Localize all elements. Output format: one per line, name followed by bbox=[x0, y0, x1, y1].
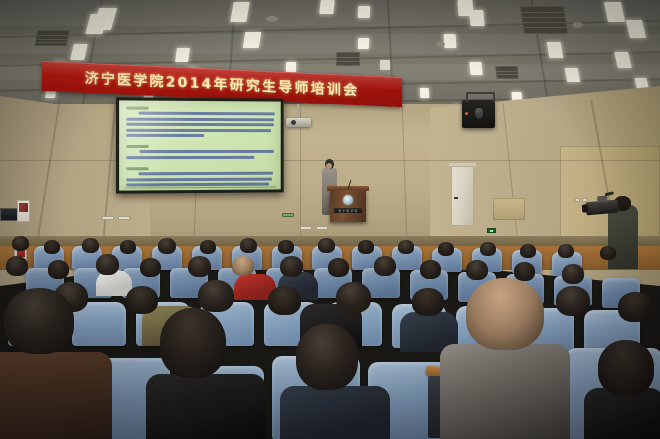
audience-head bbox=[328, 258, 349, 277]
ceiling-light bbox=[358, 6, 371, 18]
audience-head bbox=[600, 246, 616, 260]
audience-head bbox=[278, 240, 294, 254]
slide-heading bbox=[126, 145, 148, 148]
wall-outlet bbox=[118, 216, 130, 220]
ceiling-light bbox=[85, 14, 107, 34]
speaker-face bbox=[326, 163, 332, 169]
audience-head bbox=[140, 258, 161, 277]
audience-head bbox=[480, 242, 496, 256]
slide-heading bbox=[126, 167, 148, 170]
wall-outlet bbox=[102, 216, 114, 220]
audience-torso-foreground bbox=[146, 374, 266, 439]
monitor-cone bbox=[475, 108, 483, 119]
projector-mount-rod bbox=[297, 104, 299, 119]
side-door[interactable] bbox=[451, 166, 474, 226]
ceiling-light bbox=[70, 44, 88, 60]
ceiling-light bbox=[358, 38, 369, 49]
audience-head bbox=[466, 260, 488, 280]
projection-screen bbox=[119, 100, 281, 190]
projection-screen-frame bbox=[116, 97, 284, 193]
audience-head bbox=[398, 240, 414, 254]
audience-head bbox=[412, 288, 444, 316]
right-wall-panel bbox=[493, 198, 525, 220]
audience-head bbox=[82, 238, 99, 253]
ceiling-light bbox=[565, 68, 580, 82]
audience-head bbox=[318, 238, 335, 253]
ceiling-air-vent bbox=[34, 30, 69, 46]
audience-head bbox=[514, 262, 535, 281]
audience-head bbox=[520, 244, 536, 258]
audience-head-foreground bbox=[4, 288, 74, 354]
ceiling-speaker bbox=[436, 42, 445, 47]
audience-head bbox=[48, 260, 69, 279]
ceiling-light bbox=[469, 62, 482, 75]
audience-head bbox=[188, 256, 211, 277]
ceiling-air-vent bbox=[495, 66, 518, 79]
audience-head bbox=[562, 264, 584, 284]
ceiling-light bbox=[444, 34, 457, 48]
audience-torso-foreground bbox=[440, 344, 570, 439]
audience-head bbox=[126, 286, 158, 314]
audience-head bbox=[200, 240, 216, 254]
audience-head bbox=[374, 256, 396, 276]
door-handle[interactable] bbox=[454, 197, 458, 199]
audience-torso-foreground bbox=[0, 352, 112, 439]
audience-torso-foreground bbox=[280, 386, 390, 439]
monitor-power-led bbox=[465, 112, 468, 115]
ceiling-light bbox=[420, 88, 430, 98]
ceiling-air-vent bbox=[336, 52, 360, 66]
ceiling-light bbox=[319, 0, 334, 14]
audience-head bbox=[556, 286, 590, 316]
wall-outlet bbox=[316, 226, 328, 230]
camcorder-lens bbox=[582, 204, 589, 212]
audience-head bbox=[358, 240, 374, 254]
audience-head bbox=[12, 236, 29, 251]
exit-sign bbox=[487, 228, 496, 233]
audience-head bbox=[232, 256, 254, 276]
audience-head bbox=[120, 240, 136, 254]
audience-head bbox=[438, 242, 454, 256]
podium-nameplate-text: 济 宁 医 学 院 bbox=[339, 209, 358, 213]
ceiling-light bbox=[614, 52, 632, 68]
video-camcorder bbox=[585, 200, 618, 216]
audience-head bbox=[618, 292, 652, 322]
wall-outlet bbox=[282, 213, 294, 217]
ceiling-air-vent bbox=[520, 6, 568, 34]
projector-lens bbox=[291, 120, 296, 125]
audience-head-foreground bbox=[160, 308, 226, 378]
wall-outlet bbox=[575, 198, 580, 202]
camera-operator bbox=[608, 205, 638, 269]
ceiling-smoke-detector bbox=[572, 22, 583, 28]
audience-head-foreground bbox=[466, 278, 544, 350]
ceiling-smoke-detector bbox=[266, 16, 278, 22]
audience-head bbox=[280, 256, 303, 277]
ceiling-light bbox=[175, 48, 190, 62]
ceiling-light bbox=[243, 32, 262, 48]
camcorder-viewfinder bbox=[597, 196, 607, 203]
ceiling-light bbox=[469, 10, 484, 26]
audience-head bbox=[158, 238, 176, 254]
audience-head bbox=[6, 256, 28, 276]
lecture-hall-photo: 济宁医学院2014年研究生导师培训会 bbox=[0, 0, 660, 439]
monitor-bracket bbox=[466, 92, 495, 102]
slide-heading bbox=[126, 107, 148, 110]
university-crest-icon bbox=[343, 195, 353, 205]
wall-poster bbox=[17, 200, 30, 222]
audience-head bbox=[420, 260, 441, 279]
audience-head bbox=[96, 254, 119, 275]
audience-head bbox=[268, 286, 301, 315]
ceiling-light bbox=[547, 42, 564, 58]
audience-head bbox=[198, 280, 234, 312]
podium-nameplate: 济 宁 医 学 院 bbox=[334, 208, 362, 213]
podium: 济 宁 医 学 院 bbox=[330, 190, 366, 222]
audience-head-foreground bbox=[296, 324, 358, 390]
audience-head bbox=[240, 238, 257, 253]
wall-mounted-display bbox=[462, 100, 495, 128]
audience-head bbox=[44, 240, 60, 254]
audience-head bbox=[558, 244, 574, 258]
wall-outlet bbox=[300, 226, 312, 230]
ceiling-projector bbox=[286, 118, 311, 127]
audience-head-foreground bbox=[598, 340, 654, 396]
ceiling-light bbox=[380, 60, 390, 70]
audience-head bbox=[336, 282, 371, 313]
